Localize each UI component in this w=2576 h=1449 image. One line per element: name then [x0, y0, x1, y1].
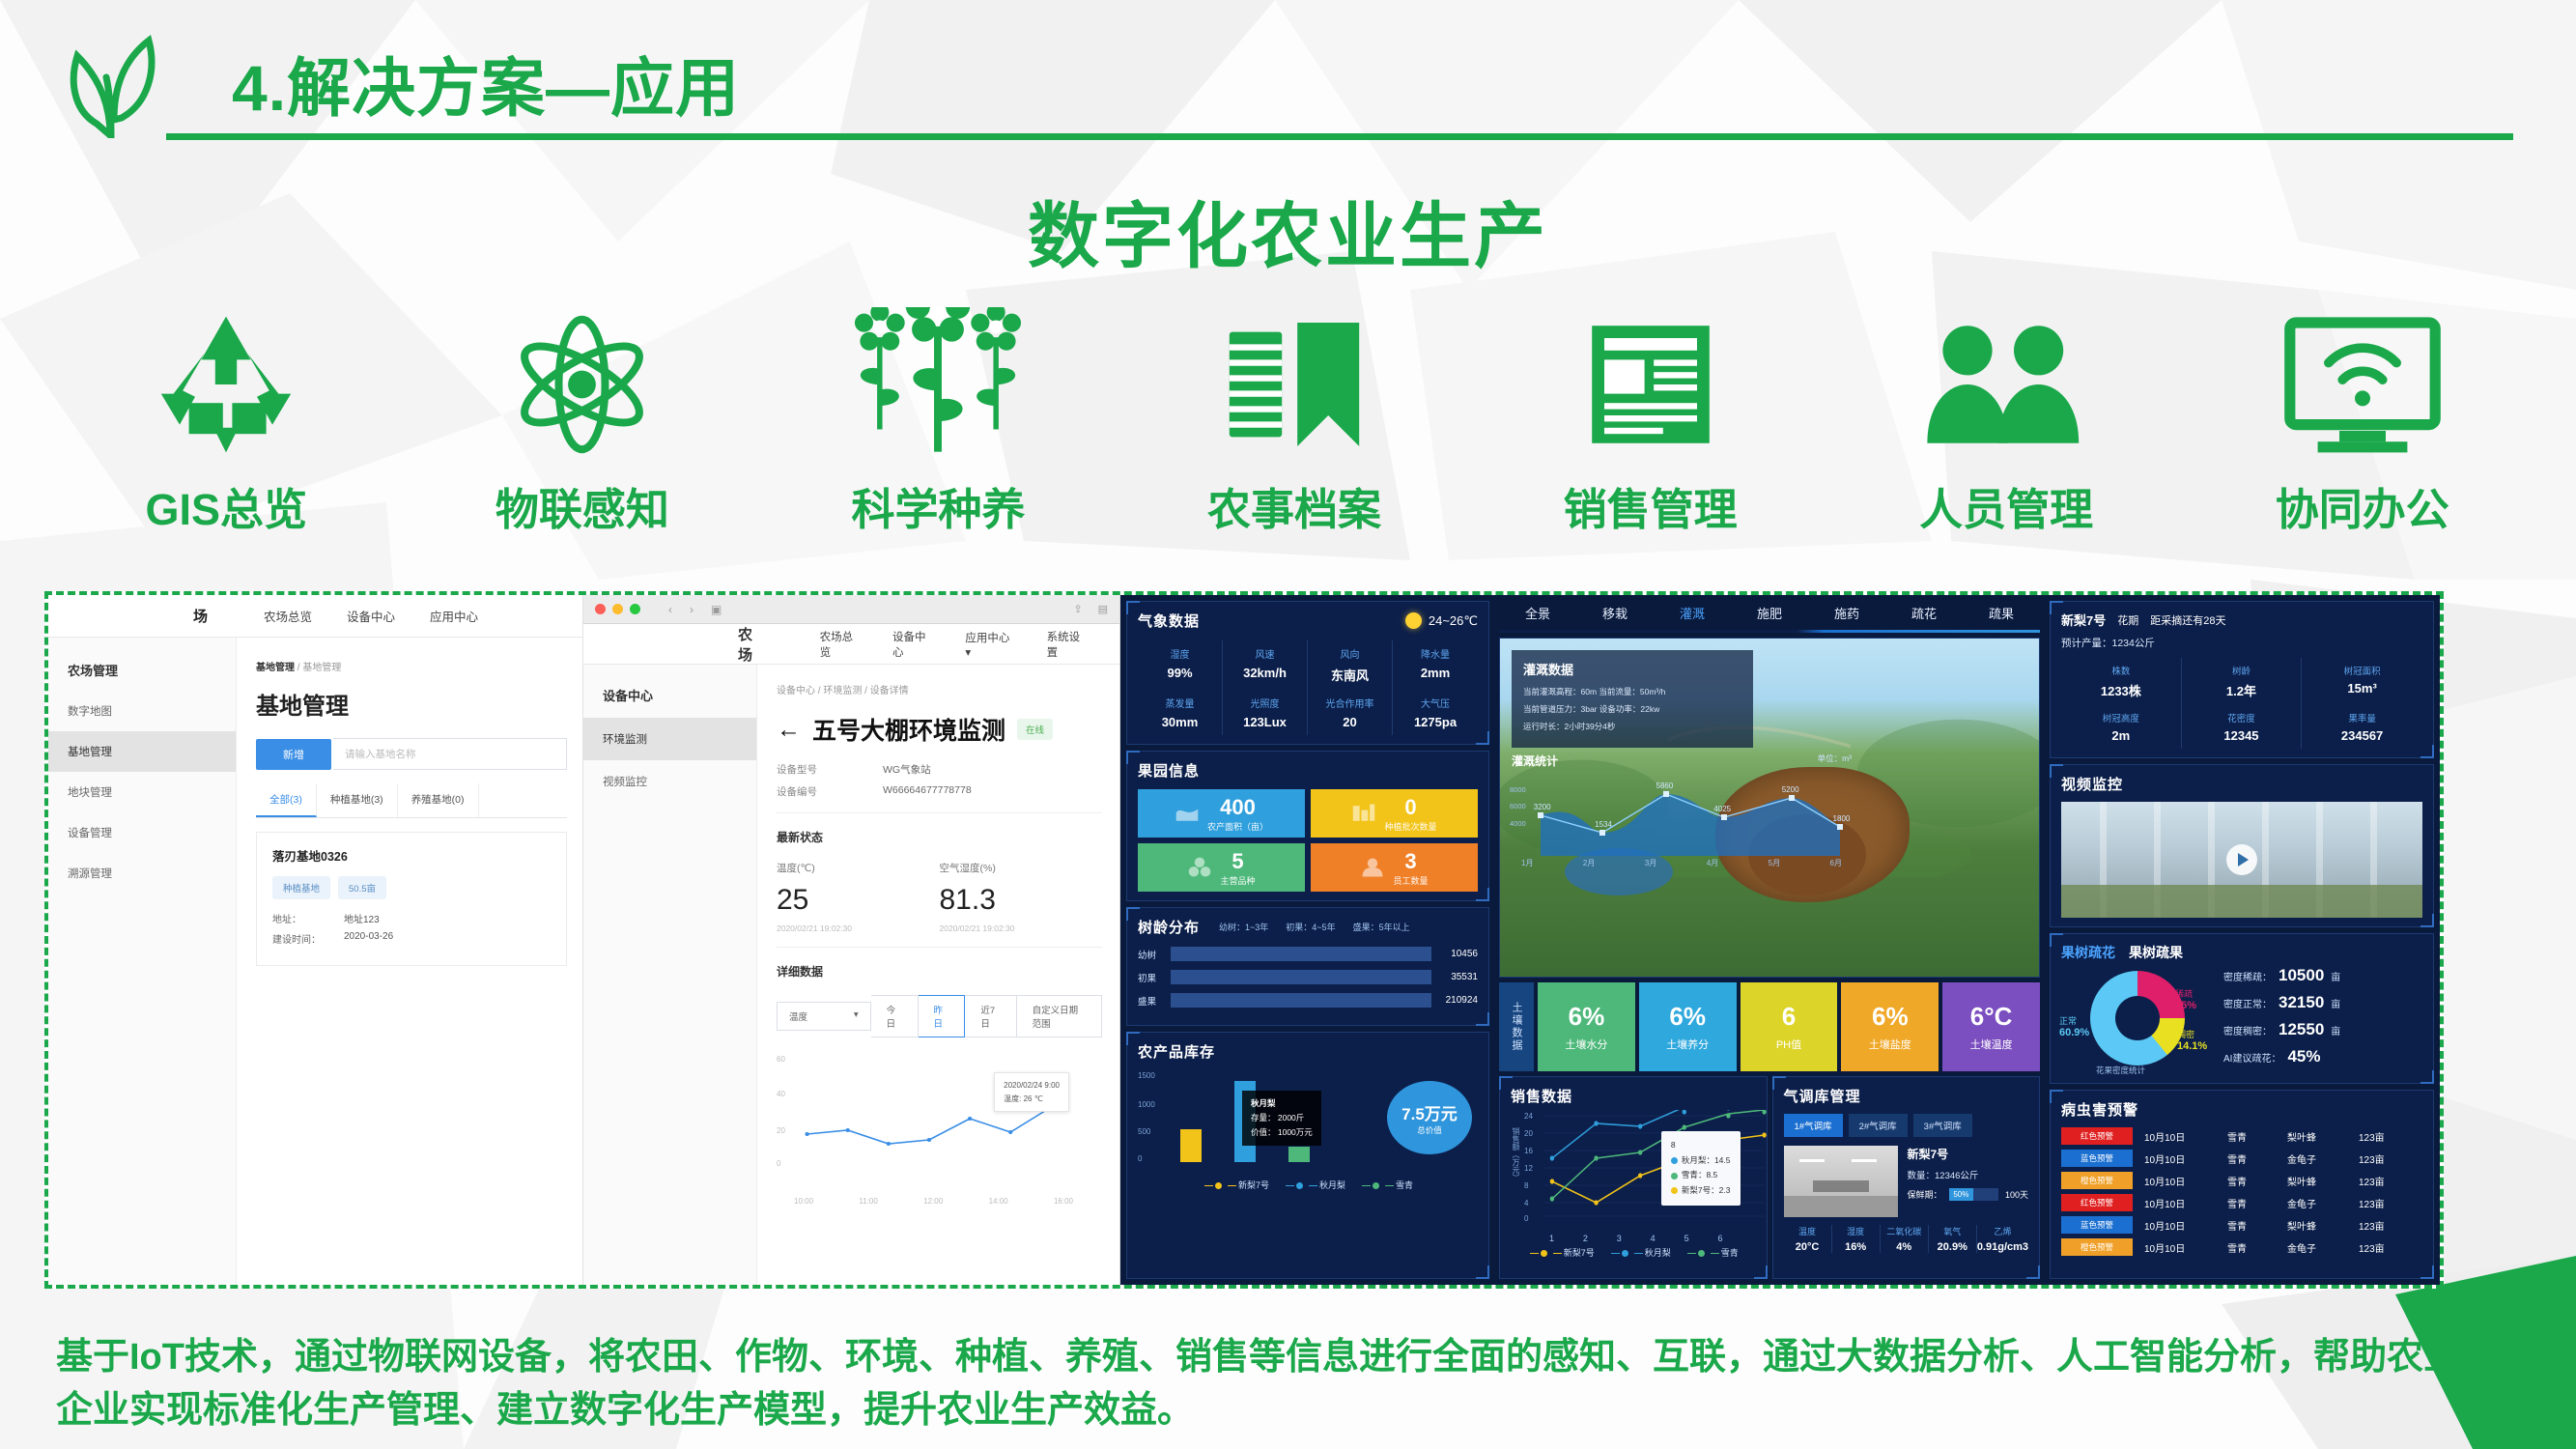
irrigation-line: 当前管道压力：3bar 设备功率：22kw — [1523, 703, 1741, 715]
section-title: 详细数据 — [777, 963, 1102, 980]
irrigation-line: 当前灌溉高程：60m 当前流量：50m³/h — [1523, 686, 1741, 697]
feature-label: 物联感知 — [495, 474, 669, 537]
tree-info-panel: 新梨7号 花期 距采摘还有28天 预计产量：1234公斤 株数1233株 树龄1… — [2050, 601, 2434, 758]
tab-flower-thinning[interactable]: 果树疏花 — [2061, 943, 2115, 962]
legend-item: 新梨7号 — [1564, 1248, 1595, 1258]
x-tick: 11:00 — [859, 1197, 877, 1206]
temperature-line-chart: 60 40 20 0 2020 — [777, 1051, 1102, 1194]
table-row[interactable]: 橙色预警 10月10日 雪青 梨叶蜂 123亩 — [2061, 1172, 2422, 1189]
atom-icon — [497, 299, 666, 469]
pest-title: 病虫害预警 — [2061, 1099, 2422, 1120]
soil-card-ph: 6 PH值 — [1741, 982, 1838, 1071]
sidebar-title: 农场管理 — [48, 653, 236, 691]
irrigation-unit: 单位：m³ — [1818, 753, 1852, 769]
thinning-stat: AI建议疏花：45% — [2223, 1047, 2422, 1066]
feature-item-staff[interactable]: 人员管理 — [1828, 299, 2185, 560]
nav-fruit-thinning[interactable]: 疏果 — [1963, 604, 2040, 622]
cold-storage-panel: 气调库管理 1#气调库 2#气调库 3#气调库 — [1772, 1076, 2041, 1279]
chevron-down-icon: ▾ — [854, 1009, 859, 1023]
cs-tab-3[interactable]: 3#气调库 — [1913, 1114, 1972, 1137]
cold-storage-photo — [1784, 1146, 1898, 1217]
sidebar-item-plot-management[interactable]: 地块管理 — [48, 772, 236, 812]
weather-panel: 气象数据 24~26℃ 湿度99% 风速32km/h 风向东南风 降水量2mm … — [1126, 601, 1489, 745]
cell-crop: 雪青 — [2227, 1174, 2287, 1188]
cs-quantity-row: 数量：12346公斤 — [1908, 1168, 2029, 1181]
legend-item: 盛果：5年以上 — [1353, 921, 1410, 933]
cell-crop: 雪青 — [2227, 1129, 2287, 1144]
y-tick: 500 — [1138, 1127, 1150, 1136]
base-address-row: 地址： 地址123 — [272, 911, 551, 925]
tooltip-series: 新梨7号 — [1682, 1185, 1711, 1195]
tooltip-series: 雪青 — [1682, 1170, 1698, 1179]
sidebar: 农场管理 数字地图 基地管理 地块管理 设备管理 溯源管理 — [48, 638, 237, 1285]
cell-area: 123亩 — [2359, 1240, 2385, 1255]
sidebar-toggle-icon[interactable]: ▣ — [711, 603, 722, 616]
bar-xinli7 — [1180, 1129, 1202, 1162]
x-tick: 5月 — [1769, 858, 1780, 868]
tree-yield-row: 预计产量：1234公斤 — [2061, 636, 2422, 650]
table-row[interactable]: 橙色预警 10月10日 雪青 金龟子 123亩 — [2061, 1238, 2422, 1256]
legend-item: 初果：4~5年 — [1286, 921, 1335, 933]
irrigation-point-value: 1800 — [1833, 814, 1851, 823]
orchard-card-staff[interactable]: 3员工数量 — [1311, 843, 1478, 892]
cell-pest: 梨叶蜂 — [2287, 1174, 2359, 1188]
nav-panorama[interactable]: 全景 — [1499, 604, 1576, 622]
tree-countdown: 距采摘还有28天 — [2150, 612, 2225, 628]
row-key: 地址： — [272, 911, 344, 925]
status-badge: 橙色预警 — [2061, 1172, 2133, 1189]
page-heading: 基地管理 — [256, 687, 567, 721]
y-tick: 0 — [1138, 1154, 1142, 1163]
irrigation-x-axis: 1月 2月 3月 4月 5月 6月 — [1512, 858, 1852, 868]
status-badge: 蓝色预警 — [2061, 1216, 2133, 1234]
base-card-title: 落刃基地0326 — [272, 846, 551, 865]
range-today[interactable]: 今日 — [871, 995, 919, 1037]
cs-tab-1[interactable]: 1#气调库 — [1784, 1114, 1843, 1137]
metric-select[interactable]: 温度 ▾ — [777, 1002, 871, 1031]
minimize-icon[interactable] — [612, 604, 623, 614]
sidebar-item-video-monitor[interactable]: 视频监控 — [583, 760, 756, 803]
density-donut-chart: 稀疏 25% 稠密 14.1% 正常 60.9% 花果密度统计 — [2061, 968, 2223, 1072]
meta-value: WG气象站 — [883, 762, 931, 777]
y-tick: 1500 — [1138, 1071, 1155, 1080]
thinning-stat: 密度稀疏：10500亩 — [2223, 966, 2422, 985]
cell-date: 10月10日 — [2144, 1218, 2227, 1233]
legend-item: 雪青 — [1721, 1248, 1739, 1258]
x-tick: 2 — [1583, 1234, 1588, 1243]
donut-label-dense: 稠密 14.1% — [2177, 1028, 2207, 1052]
tab-planting[interactable]: 种植基地(3) — [317, 783, 398, 817]
cell-crop: 雪青 — [2227, 1218, 2287, 1233]
topnav-item[interactable]: 农场总览 — [820, 629, 863, 660]
freshness-progress: 50% — [1949, 1188, 1974, 1201]
cell-area: 123亩 — [2359, 1174, 2385, 1188]
irrigation-area-chart: 3200 1534 5860 4025 5200 1800 — [1512, 773, 1852, 858]
inventory-bar-chart: 1500 1000 500 0 秋月梨 存量： 2000斤 价值： 1000万元… — [1138, 1067, 1478, 1176]
detail-data-section: 详细数据 温度 ▾ 今日 昨日 近7日 自定义日期范围 60 40 — [777, 947, 1102, 1194]
tree-metric: 株数1233株 — [2061, 658, 2182, 705]
cell-area: 123亩 — [2359, 1196, 2385, 1210]
page-title-text: 五号大棚环境监测 — [812, 712, 1005, 747]
cell-crop: 雪青 — [2227, 1151, 2287, 1166]
table-row[interactable]: 红色预警 10月10日 雪青 梨叶蜂 123亩 — [2061, 1127, 2422, 1145]
soil-data-label: 土壤数据 — [1499, 982, 1534, 1071]
meta-value: W66664677778778 — [883, 784, 972, 799]
donut-caption: 花果密度统计 — [2096, 1065, 2145, 1076]
x-tick: 12:00 — [923, 1197, 943, 1206]
orchard-3d-map[interactable]: 灌溉数据 当前灌溉高程：60m 当前流量：50m³/h 当前管道压力：3bar … — [1499, 638, 2040, 978]
tree-metrics: 株数1233株 树龄1.2年 树冠面积15m³ 树冠高度2m 花密度12345 … — [2061, 658, 2422, 749]
tree-stage: 花期 — [2117, 612, 2138, 628]
orchard-title: 果园信息 — [1138, 760, 1478, 781]
app-brand: 农场 — [738, 624, 767, 665]
topnav-item[interactable]: 应用中心 — [430, 607, 478, 625]
tree-age-row: 初果 35531 — [1138, 970, 1478, 984]
y-tick: 20 — [777, 1126, 785, 1135]
cell-pest: 金龟子 — [2287, 1196, 2359, 1210]
cs-metric: 二氧化碳4% — [1881, 1225, 1929, 1253]
screenshot-montage: 场 农场总览 设备中心 应用中心 农场管理 数字地图 基地管理 地块管理 设备管… — [44, 591, 2444, 1289]
tree-metric: 树龄1.2年 — [2182, 658, 2303, 705]
y-tick: 12 — [1524, 1164, 1533, 1173]
tab-all[interactable]: 全部(3) — [256, 783, 317, 817]
maximize-icon[interactable] — [630, 604, 640, 614]
sidebar-item-device-management[interactable]: 设备管理 — [48, 812, 236, 853]
tooltip-value: 2.3 — [1719, 1185, 1731, 1195]
meta-key: 设备编号 — [777, 784, 883, 799]
range-yesterday[interactable]: 昨日 — [919, 995, 966, 1037]
sun-icon — [1405, 612, 1422, 629]
table-row[interactable]: 蓝色预警 10月10日 雪青 梨叶蜂 123亩 — [2061, 1216, 2422, 1234]
irrigation-point-value: 5860 — [1656, 781, 1673, 790]
inventory-legend: 新梨7号 秋月梨 雪青 — [1138, 1179, 1478, 1191]
feature-item-sales[interactable]: 销售管理 — [1472, 299, 1828, 560]
topnav-item[interactable]: 设备中心 — [892, 629, 936, 660]
orchard-card-batches[interactable]: 0种植批次数量 — [1311, 789, 1478, 838]
weather-metric: 风速32km/h — [1223, 640, 1308, 690]
nav-transplant[interactable]: 移栽 — [1576, 604, 1654, 622]
people-icon — [1919, 299, 2093, 469]
tooltip-value: 温度: 26 ℃ — [1004, 1093, 1060, 1106]
sidebar-item-traceability[interactable]: 溯源管理 — [48, 853, 236, 894]
fruit-thinning-panel: 果树疏花 果树疏果 稀疏 25% 稠密 14.1% — [2050, 933, 2434, 1084]
status-badge: 红色预警 — [2061, 1127, 2133, 1145]
freshness-days: 100天 — [2005, 1188, 2028, 1201]
base-area-chip: 50.5亩 — [338, 876, 386, 899]
close-icon[interactable] — [595, 604, 606, 614]
stat-humidity: 空气湿度(%) 81.3 2020/02/21 19:02:30 — [940, 861, 1103, 933]
cell-pest: 金龟子 — [2287, 1240, 2359, 1255]
sales-x-axis: 1 2 3 4 5 6 — [1511, 1234, 1756, 1243]
x-tick: 3 — [1617, 1234, 1622, 1243]
irrigation-stat-title: 灌溉统计 — [1512, 753, 1558, 769]
video-monitor-panel: 视频监控 — [2050, 764, 2434, 927]
feature-label: 人员管理 — [1919, 474, 2093, 537]
orchard-card-variety[interactable]: 5主营品种 — [1138, 843, 1305, 892]
arrow-left-icon[interactable]: ← — [777, 716, 801, 744]
feature-item-office[interactable]: 协同办公 — [2184, 299, 2540, 560]
sidebar-item-base-management[interactable]: 基地管理 — [48, 731, 236, 772]
y-tick: 4 — [1524, 1199, 1528, 1207]
nav-underline — [1499, 630, 2040, 633]
irrigation-point-value: 3200 — [1534, 803, 1551, 811]
stat-value: 81.3 — [940, 884, 1103, 917]
thinning-stats: 密度稀疏：10500亩 密度正常：32150亩 密度稠密：12550亩 AI建议… — [2223, 966, 2422, 1074]
irrigation-point-value: 5200 — [1782, 785, 1799, 794]
staff-icon — [1360, 856, 1385, 879]
feature-label: 协同办公 — [2276, 474, 2449, 537]
chart-tooltip: 2020/02/24 9:00 温度: 26 ℃ — [994, 1072, 1069, 1112]
cs-product-name: 新梨7号 — [1908, 1146, 2029, 1162]
sidebar-item-digital-map[interactable]: 数字地图 — [48, 691, 236, 731]
x-tick: 10:00 — [794, 1197, 813, 1206]
status-badge: 蓝色预警 — [2061, 1150, 2133, 1167]
metric-select-value: 温度 — [789, 1009, 807, 1023]
tree-age-title: 树龄分布 — [1138, 917, 1200, 937]
feature-label: GIS总览 — [146, 474, 308, 537]
sales-tooltip: 8 秋月梨：14.5 雪青：8.5 新梨7号：2.3 — [1661, 1131, 1741, 1206]
tab-breeding[interactable]: 养殖基地(0) — [398, 783, 479, 817]
x-tick: 1 — [1549, 1234, 1554, 1243]
stat-timestamp: 2020/02/21 19:02:30 — [777, 923, 940, 933]
y-tick: 0 — [1524, 1214, 1528, 1223]
y-tick: 60 — [777, 1055, 785, 1064]
tooltip-line: 价值： 1000万元 — [1251, 1125, 1313, 1140]
cs-tab-2[interactable]: 2#气调库 — [1849, 1114, 1908, 1137]
sales-title: 销售数据 — [1511, 1086, 1756, 1106]
variety-icon — [1187, 856, 1212, 879]
agriculture-dashboard: 气象数据 24~26℃ 湿度99% 风速32km/h 风向东南风 降水量2mm … — [1120, 595, 2440, 1285]
cell-pest: 梨叶蜂 — [2287, 1218, 2359, 1233]
donut-label-normal: 正常 60.9% — [2059, 1014, 2089, 1038]
x-tick: 6 — [1717, 1234, 1722, 1243]
section-title: 最新状态 — [777, 829, 1102, 845]
nav-flower-thinning[interactable]: 疏花 — [1885, 604, 1963, 622]
tooltip-value: 14.5 — [1714, 1155, 1731, 1165]
browser-chrome: ‹ › ▣ ⇪ ▤ — [583, 595, 1119, 624]
x-tick: 5 — [1684, 1234, 1689, 1243]
irrigation-line: 运行时长：2小时39分4秒 — [1523, 721, 1741, 732]
cell-area: 123亩 — [2359, 1218, 2385, 1233]
row-key: 建设时间： — [272, 931, 344, 946]
y-tick: 0 — [777, 1159, 780, 1168]
breadcrumb-current: 基地管理 — [302, 663, 341, 673]
weather-metric: 光照度123Lux — [1223, 690, 1308, 735]
legend-item: 幼树：1~3年 — [1219, 921, 1268, 933]
soil-data-row: 土壤数据 6% 土壤水分 6% 土壤养分 6 PH值 6% 土壤盐度 — [1499, 982, 2040, 1071]
cold-storage-metrics: 温度20°C 湿度16% 二氧化碳4% 氧气20.9% 乙烯0.91g/cm3 — [1784, 1225, 2029, 1253]
search-input[interactable]: 请输入基地名称 — [333, 738, 567, 770]
tab-fruit-thinning[interactable]: 果树疏果 — [2129, 943, 2183, 962]
video-title: 视频监控 — [2061, 774, 2422, 794]
tree-age-panel: 树龄分布 幼树：1~3年 初果：4~5年 盛果：5年以上 幼树 10456 初果 — [1126, 907, 1489, 1026]
dashboard-topnav: 全景 移栽 灌溉 施肥 施药 疏花 疏果 — [1499, 595, 2040, 633]
inventory-panel: 农产品库存 1500 1000 500 0 秋月梨 存量： 2000斤 价值： … — [1126, 1032, 1489, 1279]
thinning-stat: 密度稠密：12550亩 — [2223, 1020, 2422, 1039]
tree-age-row: 幼树 10456 — [1138, 947, 1478, 961]
status-badge: 红色预警 — [2061, 1194, 2133, 1211]
stat-temperature: 温度(℃) 25 2020/02/21 19:02:30 — [777, 861, 940, 933]
base-card[interactable]: 落刃基地0326 种植基地 50.5亩 地址： 地址123 建设时间： 2020… — [256, 832, 567, 966]
stat-label: 温度(℃) — [777, 861, 940, 875]
video-player[interactable] — [2061, 802, 2422, 918]
breadcrumb-parent[interactable]: 基地管理 — [256, 663, 295, 673]
stat-timestamp: 2020/02/21 19:02:30 — [940, 923, 1103, 933]
y-tick: 40 — [777, 1090, 785, 1098]
inventory-tooltip: 秋月梨 存量： 2000斤 价值： 1000万元 — [1242, 1091, 1321, 1146]
feature-label: 科学种养 — [851, 474, 1025, 537]
range-custom[interactable]: 自定义日期范围 — [1017, 995, 1102, 1037]
cell-area: 123亩 — [2359, 1151, 2385, 1166]
farm-management-app: 场 农场总览 设备中心 应用中心 农场管理 数字地图 基地管理 地块管理 设备管… — [48, 595, 583, 1285]
x-tick: 16:00 — [1054, 1197, 1073, 1206]
cs-metric: 湿度16% — [1832, 1225, 1881, 1253]
feature-item-iot[interactable]: 物联感知 — [405, 299, 761, 560]
field-icon — [1175, 802, 1200, 825]
device-meta: 设备型号 WG气象站 设备编号 W66664677778778 — [777, 762, 1102, 799]
cell-date: 10月10日 — [2144, 1174, 2227, 1188]
bar-xueqing — [1288, 1147, 1310, 1162]
pest-warning-panel: 病虫害预警 红色预警 10月10日 雪青 梨叶蜂 123亩 蓝色预警 10月10… — [2050, 1090, 2434, 1279]
cell-pest: 金龟子 — [2287, 1151, 2359, 1166]
sales-panel: 销售数据 销售额（万元） 24 20 16 12 8 4 0 — [1499, 1076, 1768, 1279]
device-monitor-browser: ‹ › ▣ ⇪ ▤ 农场 农场总览 设备中心 应用中心 ▾ 系统设置 设备中心 … — [583, 595, 1120, 1285]
cs-metric: 氧气20.9% — [1929, 1225, 1977, 1253]
legend-item: 雪青 — [1396, 1180, 1413, 1190]
donut-label-sparse: 稀疏 25% — [2175, 987, 2196, 1011]
weather-title: 气象数据 — [1138, 611, 1200, 631]
cell-pest: 梨叶蜂 — [2287, 1129, 2359, 1144]
chart-filters: 温度 ▾ 今日 昨日 近7日 自定义日期范围 — [777, 995, 1102, 1037]
soil-card-salinity: 6% 土壤盐度 — [1841, 982, 1939, 1071]
status-badge: 在线 — [1017, 719, 1053, 740]
range-7days[interactable]: 近7日 — [965, 995, 1016, 1037]
total-value-bubble: 7.5万元 总价值 — [1387, 1081, 1472, 1154]
topnav-item[interactable]: 农场总览 — [264, 607, 312, 625]
thinning-stat: 密度正常：32150亩 — [2223, 993, 2422, 1012]
weather-metric: 蒸发量30mm — [1138, 690, 1223, 735]
irrigation-point-value: 1534 — [1595, 820, 1612, 829]
legend-item: 秋月梨 — [1645, 1248, 1671, 1258]
table-row[interactable]: 蓝色预警 10月10日 雪青 金龟子 123亩 — [2061, 1150, 2422, 1167]
cs-metric: 温度20°C — [1784, 1225, 1832, 1253]
tooltip-title: 秋月梨 — [1251, 1096, 1313, 1111]
freshness-label: 保鲜期： — [1908, 1188, 1942, 1201]
weather-metric: 光合作用率20 — [1308, 690, 1393, 735]
device-serial-row: 设备编号 W66664677778778 — [777, 784, 1102, 799]
inventory-title: 农产品库存 — [1138, 1041, 1478, 1062]
legend-item: 秋月梨 — [1319, 1180, 1345, 1190]
soil-card-temperature: 6°C 土壤温度 — [1942, 982, 2040, 1071]
page-title: 4.解决方案—应用 — [232, 37, 740, 129]
wifi-monitor-icon — [2276, 299, 2449, 469]
tree-metric: 果率量234567 — [2302, 705, 2422, 749]
action-bar: 新增 请输入基地名称 — [256, 738, 567, 770]
forward-arrow-icon[interactable]: › — [690, 603, 694, 616]
tabs-icon[interactable]: ▤ — [1098, 603, 1108, 615]
tree-metric: 树冠面积15m³ — [2302, 658, 2422, 705]
weather-metric: 湿度99% — [1138, 640, 1223, 690]
leaf-icon — [60, 27, 166, 138]
breadcrumb: 设备中心 / 环境监测 / 设备详情 — [777, 682, 1102, 696]
cs-metric: 乙烯0.91g/cm3 — [1977, 1225, 2028, 1253]
back-arrow-icon[interactable]: ‹ — [668, 603, 672, 616]
cold-storage-title: 气调库管理 — [1784, 1086, 2029, 1106]
cell-date: 10月10日 — [2144, 1240, 2227, 1255]
feature-item-gis[interactable]: GIS总览 — [48, 299, 405, 560]
sidebar-item-env-monitor[interactable]: 环境监测 — [583, 718, 756, 760]
x-tick: 4 — [1651, 1234, 1656, 1243]
base-date-row: 建设时间： 2020-03-26 — [272, 931, 551, 946]
app-topbar: 场 农场总览 设备中心 应用中心 — [48, 595, 582, 638]
nav-pesticide[interactable]: 施药 — [1808, 604, 1885, 622]
base-type-chip: 种植基地 — [272, 876, 330, 899]
nav-irrigation[interactable]: 灌溉 — [1654, 604, 1731, 622]
topnav-item[interactable]: 系统设置 — [1047, 629, 1090, 660]
tree-metric: 花密度12345 — [2182, 705, 2303, 749]
breadcrumb: 基地管理 / 基地管理 — [256, 659, 567, 673]
weather-metric: 大气压1275pa — [1393, 690, 1478, 735]
table-row[interactable]: 红色预警 10月10日 雪青 金龟子 123亩 — [2061, 1194, 2422, 1211]
irrigation-title: 灌溉数据 — [1523, 660, 1741, 678]
device-model-row: 设备型号 WG气象站 — [777, 762, 1102, 777]
latest-status-section: 最新状态 温度(℃) 25 2020/02/21 19:02:30 空气湿度(%… — [777, 812, 1102, 933]
orchard-card-area[interactable]: 400农产面积（亩） — [1138, 789, 1305, 838]
cell-crop: 雪青 — [2227, 1240, 2287, 1255]
cell-date: 10月10日 — [2144, 1151, 2227, 1166]
y-axis-label: 销售额（万元） — [1511, 1127, 1521, 1181]
weather-metric: 降水量2mm — [1393, 640, 1478, 690]
feature-label: 农事档案 — [1207, 474, 1381, 537]
x-tick: 2月 — [1583, 858, 1595, 868]
irrigation-point-value: 4025 — [1713, 805, 1731, 813]
add-button[interactable]: 新增 — [256, 739, 331, 770]
soil-card-moisture: 6% 土壤水分 — [1538, 982, 1635, 1071]
page-heading: ← 五号大棚环境监测 在线 — [777, 712, 1102, 747]
share-icon[interactable]: ⇪ — [1073, 603, 1082, 615]
cs-freshness-row: 保鲜期： 50% 100天 — [1908, 1188, 2029, 1201]
topnav-item[interactable]: 设备中心 — [347, 607, 395, 625]
x-tick: 14:00 — [989, 1197, 1008, 1206]
page-header: 4.解决方案—应用 — [0, 10, 2576, 145]
archive-book-icon — [1212, 299, 1376, 469]
nav-fertilize[interactable]: 施肥 — [1731, 604, 1808, 622]
temp-range: 24~26℃ — [1429, 613, 1478, 629]
soil-card-nutrient: 6% 土壤养分 — [1639, 982, 1737, 1071]
x-tick: 1月 — [1521, 858, 1533, 868]
feature-item-archive[interactable]: 农事档案 — [1117, 299, 1473, 560]
feature-item-planting[interactable]: 科学种养 — [760, 299, 1117, 560]
tooltip-title: 8 — [1671, 1138, 1731, 1153]
play-icon[interactable] — [2226, 844, 2257, 875]
tree-name: 新梨7号 — [2061, 611, 2106, 629]
status-badge: 橙色预警 — [2061, 1238, 2133, 1256]
sidebar: 设备中心 环境监测 视频监控 — [583, 665, 757, 1285]
topnav-item[interactable]: 应用中心 ▾ — [965, 630, 1017, 659]
cell-date: 10月10日 — [2144, 1196, 2227, 1210]
tree-age-bars: 幼树 10456 初果 35531 盛果 210924 — [1138, 947, 1478, 1008]
tooltip-series: 秋月梨 — [1682, 1155, 1707, 1165]
y-tick: 16 — [1524, 1147, 1533, 1155]
x-tick: 6月 — [1830, 858, 1842, 868]
tree-metric: 树冠高度2m — [2061, 705, 2182, 749]
y-tick: 24 — [1524, 1112, 1533, 1121]
cell-date: 10月10日 — [2144, 1129, 2227, 1144]
tooltip-time: 2020/02/24 9:00 — [1004, 1079, 1060, 1093]
tooltip-value: 8.5 — [1706, 1170, 1717, 1179]
y-tick: 8 — [1524, 1181, 1528, 1190]
legend-item: 新梨7号 — [1238, 1180, 1269, 1190]
